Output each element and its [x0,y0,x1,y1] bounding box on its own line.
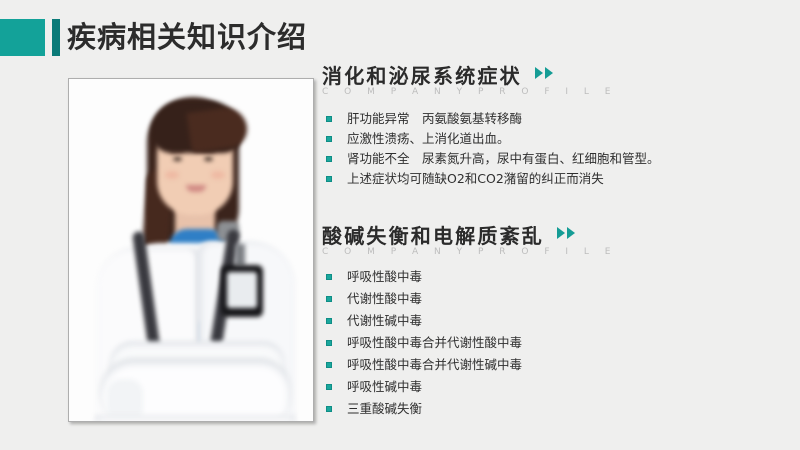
bullet-square-icon [326,318,332,324]
list-item-label: 肝功能异常 丙氨酸氨基转移酶 [347,111,522,126]
list-item-label: 呼吸性碱中毒 [347,379,422,394]
badge-clip [235,244,245,266]
content-column: 消化和泌尿系统症状 C O M P A N Y P R O F I L E 肝功… [322,0,792,450]
right-eye [204,157,213,161]
list-item: 呼吸性酸中毒 [322,266,522,288]
acid-base-list: 呼吸性酸中毒 代谢性酸中毒 代谢性碱中毒 呼吸性酸中毒合并代谢性酸中毒 呼吸性酸… [322,266,522,420]
list-item: 应激性溃疡、上消化道出血。 [322,129,660,149]
list-item: 肾功能不全 尿素氮升高，尿中有蛋白、红细胞和管型。 [322,149,660,169]
bullet-square-icon [326,340,332,346]
right-cheek [211,171,225,179]
bullet-square-icon [326,176,332,182]
list-item: 代谢性碱中毒 [322,310,522,332]
bullet-square-icon [326,116,332,122]
list-item: 上述症状均可随缺O2和CO2潴留的纠正而消失 [322,169,660,189]
left-eye [173,157,182,161]
list-item: 呼吸性酸中毒合并代谢性酸中毒 [322,332,522,354]
list-item-label: 上述症状均可随缺O2和CO2潴留的纠正而消失 [347,171,604,186]
id-badge-card [227,272,257,308]
list-item-label: 三重酸碱失衡 [347,401,422,416]
bullet-square-icon [326,274,332,280]
list-item-label: 应激性溃疡、上消化道出血。 [347,131,510,146]
bullet-square-icon [326,296,332,302]
list-item: 呼吸性酸中毒合并代谢性碱中毒 [322,354,522,376]
section-title: 酸碱失衡和电解质紊乱 [322,224,544,248]
list-item-label: 呼吸性酸中毒合并代谢性酸中毒 [347,335,522,350]
slide-canvas: 疾病相关知识介绍 [0,0,800,450]
section-heading-digestive-urinary: 消化和泌尿系统症状 C O M P A N Y P R O F I L E [322,64,617,98]
lab-coat-hem [95,415,295,421]
section-subtitle: C O M P A N Y P R O F I L E [322,247,617,258]
section-subtitle: C O M P A N Y P R O F I L E [322,87,617,98]
doctor-photo [69,79,313,421]
list-item-label: 代谢性碱中毒 [347,313,422,328]
list-item-label: 呼吸性酸中毒 [347,269,422,284]
bullet-square-icon [326,406,332,412]
doctor-photo-frame [68,78,314,422]
list-item: 呼吸性碱中毒 [322,376,522,398]
symptom-list: 肝功能异常 丙氨酸氨基转移酶 应激性溃疡、上消化道出血。 肾功能不全 尿素氮升高… [322,109,660,189]
bullet-square-icon [326,362,332,368]
header-accent-bar [52,19,60,56]
double-chevron-right-icon [534,65,556,84]
bullet-square-icon [326,136,332,142]
page-title: 疾病相关知识介绍 [67,17,307,57]
list-item: 代谢性酸中毒 [322,288,522,310]
bullet-square-icon [326,384,332,390]
bullet-square-icon [326,156,332,162]
section-title: 消化和泌尿系统症状 [322,64,522,88]
double-chevron-right-icon [556,225,578,244]
list-item-label: 呼吸性酸中毒合并代谢性碱中毒 [347,357,522,372]
list-item-label: 肾功能不全 尿素氮升高，尿中有蛋白、红细胞和管型。 [347,151,660,166]
left-cheek [165,171,179,179]
list-item: 三重酸碱失衡 [322,398,522,420]
hair-sweep [186,105,249,153]
section-heading-acid-base: 酸碱失衡和电解质紊乱 C O M P A N Y P R O F I L E [322,224,617,258]
list-item-label: 代谢性酸中毒 [347,291,422,306]
header-accent-block [0,19,45,56]
list-item: 肝功能异常 丙氨酸氨基转移酶 [322,109,660,129]
